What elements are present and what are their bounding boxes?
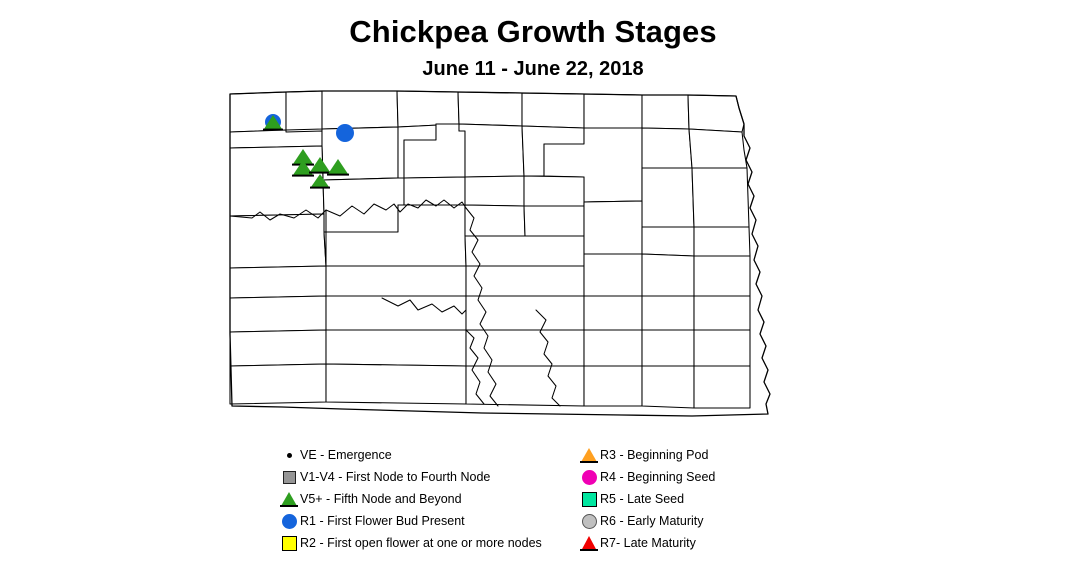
legend-item-r7: R7- Late Maturity [578,532,715,554]
r7-triangle-icon [578,533,600,553]
legend-column-left: VE - Emergence V1-V4 - First Node to Fou… [278,444,542,554]
marker-r1-burke [336,124,354,142]
ve-dot-icon [278,445,300,465]
legend-item-r3-label: R3 - Beginning Pod [600,449,708,462]
v5-triangle-icon [278,489,300,509]
marker-v5-b-base [292,175,314,177]
legend-item-r2: R2 - First open flower at one or more no… [278,532,542,554]
map-svg [222,84,802,424]
title-block: Chickpea Growth Stages June 11 - June 22… [0,16,1066,79]
r6-circle-icon [578,511,600,531]
legend-item-v1v4: V1-V4 - First Node to Fourth Node [278,466,542,488]
legend-item-r7-label: R7- Late Maturity [600,537,696,550]
r2-square-icon [278,533,300,553]
legend-item-r1-label: R1 - First Flower Bud Present [300,515,465,528]
marker-v5-e-base [310,187,330,189]
legend-item-ve-label: VE - Emergence [300,449,392,462]
legend-column-right: R3 - Beginning Pod R4 - Beginning Seed R… [578,444,715,554]
legend-item-r3: R3 - Beginning Pod [578,444,715,466]
legend-item-v5: V5+ - Fifth Node and Beyond [278,488,542,510]
county-boundaries [230,91,750,408]
legend-item-r6-label: R6 - Early Maturity [600,515,704,528]
r5-square-icon [578,489,600,509]
r3-triangle-icon [578,445,600,465]
legend-item-ve: VE - Emergence [278,444,542,466]
legend-item-v1v4-label: V1-V4 - First Node to Fourth Node [300,471,490,484]
chickpea-growth-stages-map-page: Chickpea Growth Stages June 11 - June 22… [0,0,1066,561]
legend-item-r1: R1 - First Flower Bud Present [278,510,542,532]
r4-circle-icon [578,467,600,487]
legend: VE - Emergence V1-V4 - First Node to Fou… [278,444,798,556]
marker-v5-d-base [327,174,349,176]
legend-item-v5-label: V5+ - Fifth Node and Beyond [300,493,462,506]
page-subtitle: June 11 - June 22, 2018 [0,59,1066,79]
legend-item-r4: R4 - Beginning Seed [578,466,715,488]
legend-item-r2-label: R2 - First open flower at one or more no… [300,537,542,550]
r1-circle-icon [278,511,300,531]
v1v4-square-icon [278,467,300,487]
legend-item-r5-label: R5 - Late Seed [600,493,684,506]
marker-v5-divide-base [263,129,283,131]
north-dakota-map [222,84,802,424]
page-title: Chickpea Growth Stages [0,16,1066,47]
legend-item-r6: R6 - Early Maturity [578,510,715,532]
legend-item-r4-label: R4 - Beginning Seed [600,471,715,484]
marker-v5-c-base [309,172,331,174]
legend-item-r5: R5 - Late Seed [578,488,715,510]
